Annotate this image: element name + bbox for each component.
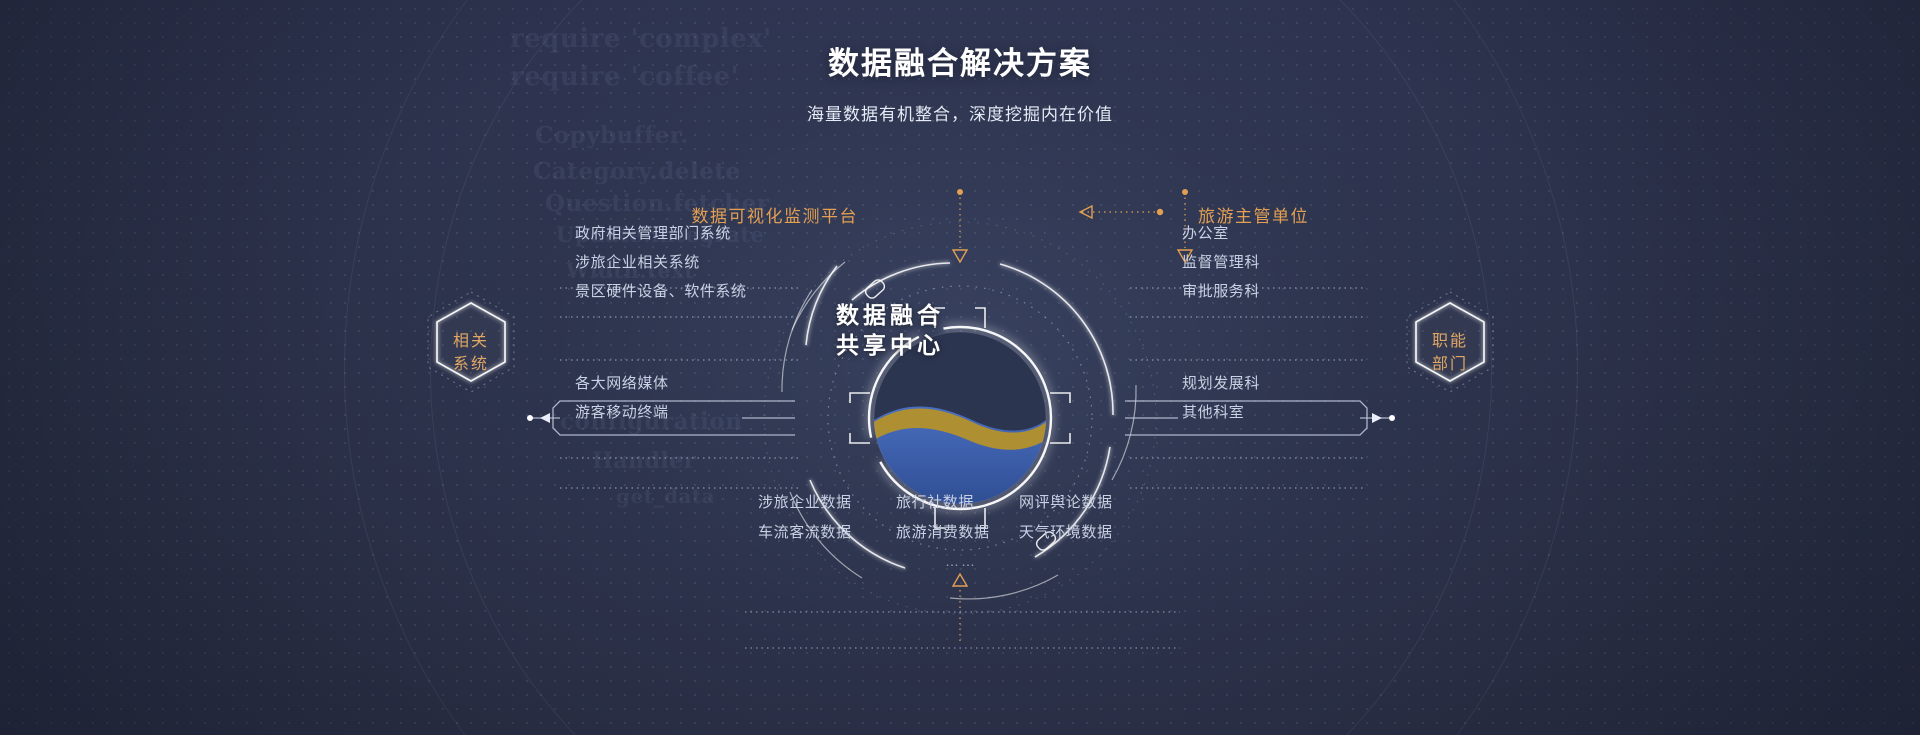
right-badge-label: 职能 部门 bbox=[1390, 330, 1510, 376]
bottom-label-1-1: 旅游消费数据 bbox=[896, 525, 990, 540]
right-rail-dot bbox=[1389, 415, 1395, 421]
top-horizontal-link bbox=[1080, 206, 1163, 218]
right-label-4: 其他科室 bbox=[1182, 405, 1244, 420]
bottom-rail bbox=[745, 612, 1180, 648]
right-feeder-lines-bottom bbox=[1130, 458, 1365, 488]
left-label-1: 涉旅企业相关系统 bbox=[575, 255, 700, 270]
core-liquid-fill bbox=[874, 332, 1046, 504]
top-left-connector bbox=[953, 189, 967, 262]
node-data-visualization-platform[interactable]: 数据可视化监测平台 bbox=[692, 202, 859, 227]
right-badge-line2: 部门 bbox=[1390, 353, 1510, 376]
left-rail-dot bbox=[527, 415, 533, 421]
left-rail-arrow-icon bbox=[540, 413, 550, 423]
bottom-label-0-1: 旅行社数据 bbox=[896, 495, 974, 510]
diagram-stage: 数据融合 共享中心 数据可视化监测平台 旅游主管单位 相关 系统 职能 部门 政… bbox=[0, 0, 1920, 735]
node-tourism-authority[interactable]: 旅游主管单位 bbox=[1198, 202, 1309, 227]
left-label-4: 游客移动终端 bbox=[575, 405, 669, 420]
left-feeder-lines-bottom bbox=[560, 458, 800, 488]
right-label-3: 规划发展科 bbox=[1182, 376, 1260, 391]
left-label-3: 各大网络媒体 bbox=[575, 376, 669, 391]
diagram-vector-layer bbox=[0, 0, 1920, 735]
left-badge-label: 相关 系统 bbox=[411, 330, 531, 376]
left-label-0: 政府相关管理部门系统 bbox=[575, 226, 731, 241]
left-badge-line1: 相关 bbox=[411, 330, 531, 353]
right-label-0: 办公室 bbox=[1182, 226, 1229, 241]
right-rail-arrow-icon bbox=[1372, 413, 1382, 423]
bottom-label-1-2: 天气环境数据 bbox=[1019, 525, 1113, 540]
bottom-label-0-2: 网评舆论数据 bbox=[1019, 495, 1113, 510]
bottom-label-1-0: 车流客流数据 bbox=[758, 525, 852, 540]
right-badge-line1: 职能 bbox=[1390, 330, 1510, 353]
right-label-2: 审批服务科 bbox=[1182, 284, 1260, 299]
right-connector-rail bbox=[1125, 401, 1392, 435]
left-badge-line2: 系统 bbox=[411, 353, 531, 376]
right-label-1: 监督管理科 bbox=[1182, 255, 1260, 270]
left-label-2: 景区硬件设备、软件系统 bbox=[575, 284, 747, 299]
bottom-label-0-0: 涉旅企业数据 bbox=[758, 495, 852, 510]
bottom-ellipsis: …… bbox=[945, 553, 977, 569]
bottom-connector bbox=[953, 574, 967, 645]
